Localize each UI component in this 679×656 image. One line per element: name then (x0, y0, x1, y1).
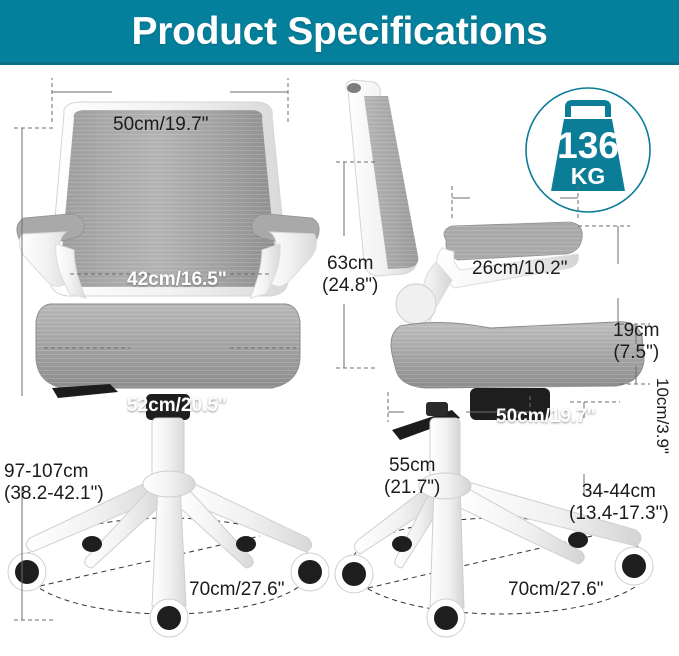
dim-armrest-height-cm: 19cm (613, 320, 659, 342)
dim-seat-height-in: (13.4-17.3") (569, 503, 669, 525)
tilt-knob[interactable] (426, 402, 448, 416)
dim-back-width: 50cm/19.7" (113, 114, 208, 135)
caster-wheels-side (335, 532, 653, 637)
backrest-mesh-texture (60, 110, 277, 287)
page-title: Product Specifications (132, 12, 548, 51)
dim-seat-thickness: 10cm/3.9" (653, 378, 672, 454)
seat-cushion-side-texture (391, 322, 644, 388)
dim-backrest-height-cm: 63cm (322, 253, 378, 275)
dim-backrest-inner-width: 42cm/16.5" (127, 269, 227, 291)
dim-base-diameter-front: 70cm/27.6" (189, 579, 284, 600)
dim-seat-depth-cm: 55cm (384, 455, 440, 477)
dim-overall-height: 97-107cm (38.2-42.1") (4, 461, 104, 505)
dim-seat-depth-in: (21.7") (384, 477, 440, 499)
armrest-pivot (396, 284, 436, 324)
header-banner: Product Specifications (0, 0, 679, 62)
seat-cushion-texture (36, 304, 300, 388)
dim-base-diameter-side: 70cm/27.6" (508, 579, 603, 600)
office-chair-front-view (0, 66, 340, 646)
dim-overall-height-cm: 97-107cm (4, 461, 104, 483)
dim-seat-depth: 55cm (21.7") (384, 455, 440, 499)
product-specifications-page: Product Specifications 136 KG (0, 0, 679, 656)
dim-armrest-height-in: (7.5") (613, 342, 659, 364)
dim-seat-depth-overlay: 50cm/19.7" (496, 406, 596, 428)
dim-armrest-length: 26cm/10.2" (472, 258, 567, 279)
dim-seat-height-cm: 34-44cm (569, 481, 669, 503)
header-underline (0, 62, 679, 65)
backrest-top-detail (347, 83, 361, 93)
dim-overall-height-in: (38.2-42.1") (4, 483, 104, 505)
dim-armrest-height: 19cm (7.5") (613, 320, 659, 364)
dim-seat-height: 34-44cm (13.4-17.3") (569, 481, 669, 525)
dim-backrest-height: 63cm (24.8") (322, 253, 378, 297)
dim-backrest-height-in: (24.8") (322, 275, 378, 297)
dim-seat-width: 52cm/20.5" (127, 395, 227, 417)
